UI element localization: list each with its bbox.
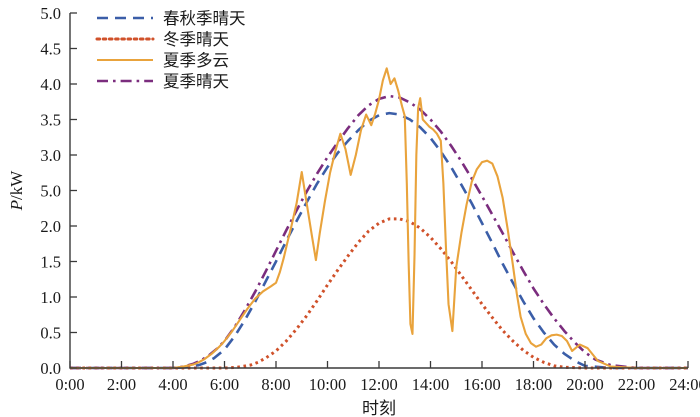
pv-power-line-chart: 0:002:004:006:008:0010:0012:0014:0016:00… — [0, 0, 700, 417]
x-tick-label: 2:00 — [107, 375, 136, 394]
series-line-spring-autumn-clear — [70, 113, 688, 368]
x-tick-label: 20:00 — [566, 375, 604, 394]
chart-legend: 春秋季晴天冬季晴天夏季多云夏季晴天 — [97, 9, 246, 91]
series-line-summer-cloudy — [70, 68, 688, 368]
x-tick-label: 4:00 — [158, 375, 187, 394]
y-tick-label: 5.0 — [40, 181, 61, 200]
x-axis-tick-labels: 0:002:004:006:008:0010:0012:0014:0016:00… — [55, 375, 700, 394]
y-tick-label: 0.5 — [40, 323, 61, 342]
legend-label: 冬季晴天 — [163, 30, 229, 49]
y-axis-tick-labels: 0.00.51.01.52.05.03.03.54.04.55.0 — [40, 4, 61, 378]
x-tick-label: 14:00 — [412, 375, 450, 394]
x-tick-label: 18:00 — [515, 375, 553, 394]
y-tick-label: 5.0 — [40, 4, 61, 23]
x-axis-title: 时刻 — [362, 399, 396, 417]
x-tick-label: 16:00 — [463, 375, 501, 394]
x-tick-label: 8:00 — [261, 375, 290, 394]
series-line-winter-clear — [70, 219, 688, 368]
legend-label: 夏季晴天 — [163, 72, 229, 91]
y-tick-label: 3.5 — [40, 110, 61, 129]
y-tick-label: 2.0 — [40, 217, 61, 236]
x-tick-label: 24:00 — [669, 375, 700, 394]
svg-text:P/kW: P/kW — [7, 170, 26, 212]
x-tick-label: 0:00 — [55, 375, 84, 394]
series-line-summer-clear — [70, 96, 688, 368]
x-tick-label: 6:00 — [210, 375, 239, 394]
x-tick-label: 12:00 — [360, 375, 398, 394]
y-tick-label: 4.0 — [40, 75, 61, 94]
legend-label: 夏季多云 — [163, 51, 229, 70]
y-tick-label: 0.0 — [40, 359, 61, 378]
y-tick-label: 1.0 — [40, 288, 61, 307]
y-tick-label: 4.5 — [40, 39, 61, 58]
chart-figure: 0:002:004:006:008:0010:0012:0014:0016:00… — [0, 0, 700, 417]
x-tick-label: 10:00 — [309, 375, 347, 394]
y-axis-title: P/kW — [7, 170, 26, 212]
y-tick-label: 3.0 — [40, 146, 61, 165]
series-layer — [70, 68, 688, 368]
x-tick-label: 22:00 — [618, 375, 656, 394]
legend-label: 春秋季晴天 — [163, 9, 246, 28]
y-tick-label: 1.5 — [40, 252, 61, 271]
